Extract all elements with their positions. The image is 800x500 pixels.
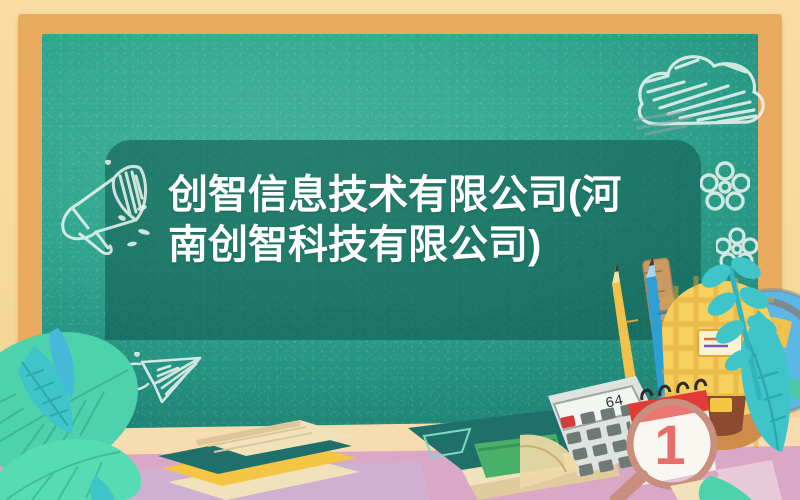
board-title-line-1: 创智信息技术有限公司(河: [168, 170, 638, 220]
board-title-line-2: 南创智科技有限公司): [168, 220, 638, 270]
banner-image: 64: [0, 0, 800, 500]
board-title: 创智信息技术有限公司(河 南创智科技有限公司): [168, 170, 638, 270]
megaphone-chalk-icon: [44, 160, 154, 255]
left-foliage: [0, 300, 260, 500]
